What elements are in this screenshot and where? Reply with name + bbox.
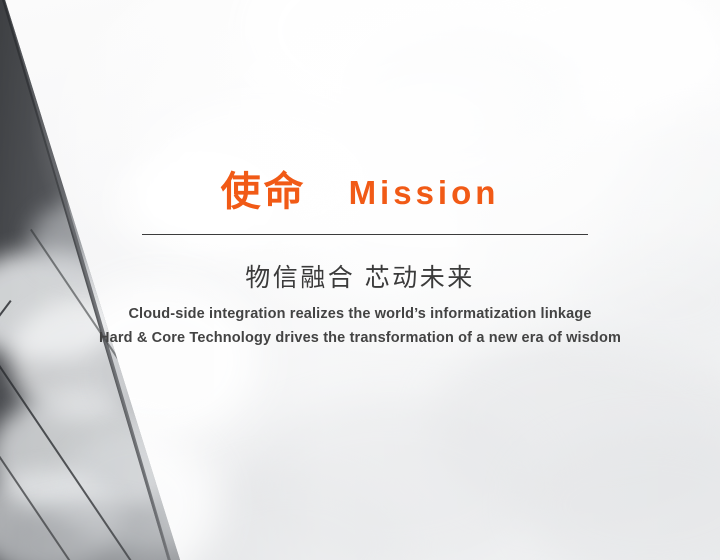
title-english: Mission — [349, 174, 500, 211]
subtitle-chinese: 物信融合 芯动未来 — [0, 258, 720, 294]
page-title: 使命Mission — [0, 172, 720, 212]
slide-content: 使命Mission 物信融合 芯动未来 Cloud-side integrati… — [0, 0, 720, 560]
body-line-1: Cloud-side integration realizes the worl… — [0, 302, 720, 326]
mission-slide: 使命Mission 物信融合 芯动未来 Cloud-side integrati… — [0, 0, 720, 560]
body-text: Cloud-side integration realizes the worl… — [0, 302, 720, 350]
title-chinese: 使命 — [221, 170, 307, 214]
title-divider — [142, 234, 588, 235]
body-line-2: Hard & Core Technology drives the transf… — [0, 326, 720, 350]
